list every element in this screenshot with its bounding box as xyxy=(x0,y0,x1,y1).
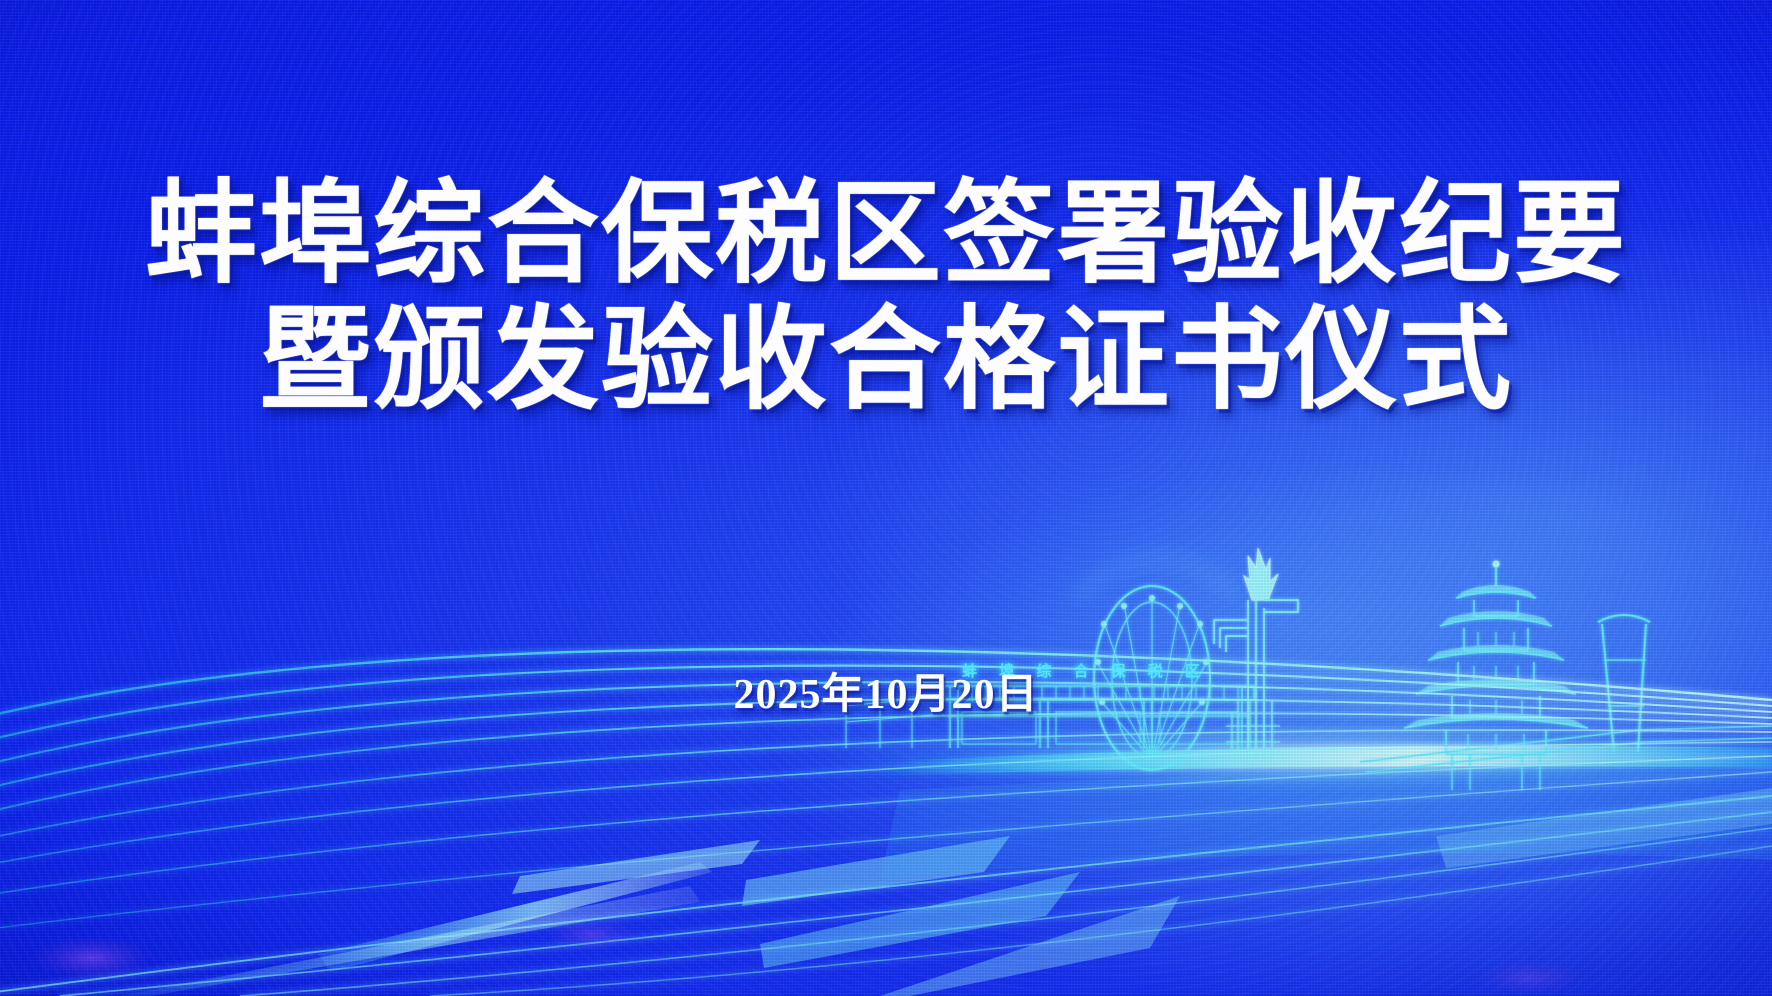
magenta-flare xyxy=(1474,960,1586,996)
led-backdrop-screen: 蚌 埠 综 合 保 税 区 蚌埠综合保税区签署验收纪要 暨颁发验收合格证书仪式 … xyxy=(0,0,1772,996)
monument-tower-icon xyxy=(1214,548,1298,760)
headline-line-2: 暨颁发验收合格证书仪式 xyxy=(0,304,1772,418)
magenta-flare xyxy=(544,918,640,950)
headline-line-1: 蚌埠综合保税区签署验收纪要 xyxy=(0,178,1772,292)
ground-sheen xyxy=(880,760,1772,880)
headline-block: 蚌埠综合保税区签署验收纪要 暨颁发验收合格证书仪式 xyxy=(0,178,1772,418)
backdrop-artwork xyxy=(0,0,1772,996)
magenta-flare xyxy=(30,936,154,980)
artwork-svg xyxy=(0,0,1772,996)
event-date: 2025年10月20日 xyxy=(0,660,1772,721)
